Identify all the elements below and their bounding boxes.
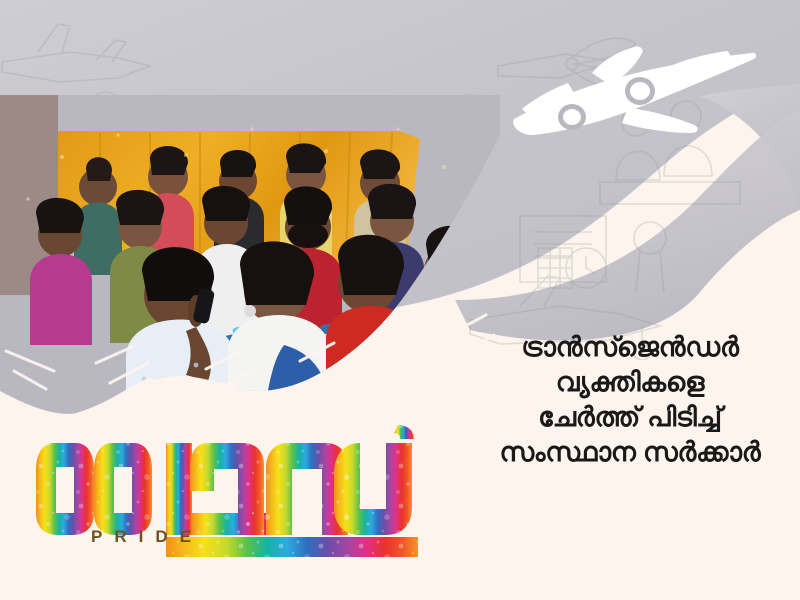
headline-line-2: വ്യക്തികളെ <box>470 365 790 400</box>
photo-collage <box>0 95 500 425</box>
headline-block: ട്രാൻസ്ജെൻഡർ വ്യക്തികളെ ചേർത്ത് പിടിച്ച്… <box>470 330 790 470</box>
headline-line-1: ട്രാൻസ്ജെൻഡർ <box>470 330 790 365</box>
airplane-icon <box>500 45 760 155</box>
pride-latin-label: PRIDE <box>91 527 203 547</box>
headline-line-3: ചേർത്ത് പിടിച്ച് <box>470 400 790 435</box>
airplane-lineart-left <box>2 24 150 82</box>
photo-people-illustration <box>0 95 500 425</box>
poster-canvas: ട്രാൻസ്ജെൻഡർ വ്യക്തികളെ ചേർത്ത് പിടിച്ച്… <box>0 0 800 600</box>
pride-logo: PRIDE <box>28 415 448 565</box>
location-pin-lineart <box>634 222 666 292</box>
headline-line-4: സംസ്ഥാന സർക്കാർ <box>470 435 790 470</box>
